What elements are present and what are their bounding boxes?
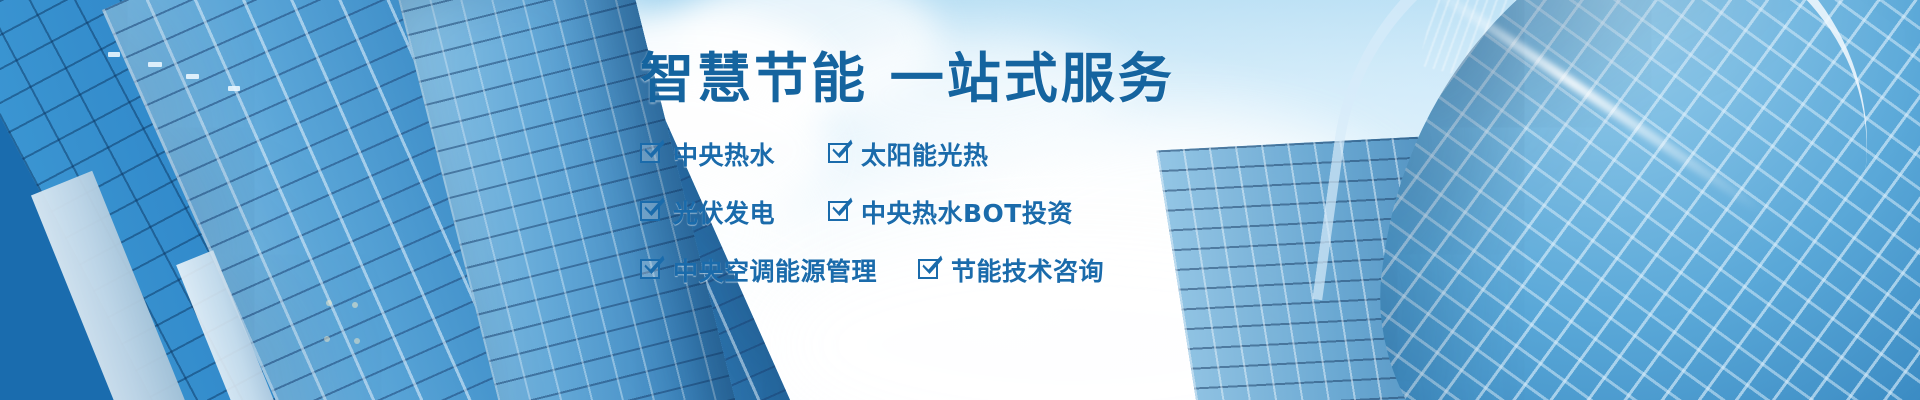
- checkbox-checked-icon: [828, 201, 850, 223]
- service-list: 中央热水 太阳能光热: [640, 136, 1320, 288]
- service-item-label: 光伏发电: [673, 194, 775, 230]
- window-light: [148, 62, 162, 67]
- service-item-photovoltaic[interactable]: 光伏发电: [640, 194, 828, 230]
- page-title: 智慧节能 一站式服务: [640, 52, 1320, 106]
- service-row: 中央空调能源管理 节能技术咨询: [640, 252, 1320, 288]
- service-item-label: 中央热水BOT投资: [861, 194, 1073, 230]
- service-item-central-hot-water[interactable]: 中央热水: [640, 136, 828, 172]
- window-light: [228, 86, 240, 91]
- service-item-label: 太阳能光热: [861, 136, 989, 172]
- window-light: [324, 336, 330, 342]
- service-item-label: 中央热水: [673, 136, 775, 172]
- window-light: [354, 338, 360, 344]
- window-light: [108, 52, 120, 57]
- service-row: 光伏发电 中央热水BOT投资: [640, 194, 1320, 230]
- window-light: [186, 74, 199, 79]
- window-light: [326, 300, 332, 306]
- service-item-solar-thermal[interactable]: 太阳能光热: [828, 136, 989, 172]
- checkbox-checked-icon: [640, 201, 662, 223]
- banner-content: 智慧节能 一站式服务 中央热水: [640, 52, 1320, 288]
- service-item-energy-consulting[interactable]: 节能技术咨询: [918, 252, 1104, 288]
- service-row: 中央热水 太阳能光热: [640, 136, 1320, 172]
- service-item-hvac-energy-management[interactable]: 中央空调能源管理: [640, 252, 918, 288]
- checkbox-checked-icon: [828, 143, 850, 165]
- window-light: [352, 302, 358, 308]
- hero-banner: 智慧节能 一站式服务 中央热水: [0, 0, 1920, 400]
- service-item-hot-water-bot[interactable]: 中央热水BOT投资: [828, 194, 1073, 230]
- service-item-label: 中央空调能源管理: [673, 252, 877, 288]
- checkbox-checked-icon: [918, 259, 940, 281]
- service-item-label: 节能技术咨询: [951, 252, 1104, 288]
- checkbox-checked-icon: [640, 143, 662, 165]
- checkbox-checked-icon: [640, 259, 662, 281]
